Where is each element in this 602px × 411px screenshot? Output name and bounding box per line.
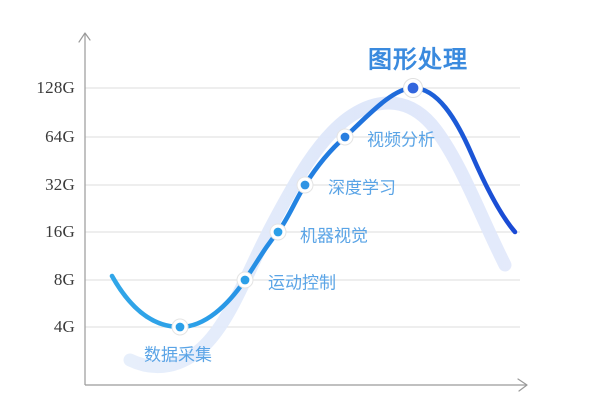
marker-machine-vision[interactable] — [270, 224, 286, 240]
point-label-data-acquisition: 数据采集 — [144, 341, 212, 366]
y-tick-label-64g: 64G — [20, 127, 75, 147]
y-axis — [79, 33, 90, 385]
y-tick-label-128g: 128G — [20, 78, 75, 98]
marker-data-acquisition[interactable] — [172, 319, 188, 335]
y-tick-label-16g: 16G — [20, 222, 75, 242]
point-label-motion-control: 运动控制 — [268, 269, 336, 294]
point-label-video-analysis: 视频分析 — [367, 126, 435, 151]
y-tick-label-4g: 4G — [20, 317, 75, 337]
y-tick-label-8g: 8G — [20, 270, 75, 290]
chart-svg — [0, 0, 602, 411]
marker-deep-learning[interactable] — [297, 177, 313, 193]
marker-video-analysis[interactable] — [337, 129, 353, 145]
data-point-markers — [172, 79, 423, 336]
marker-motion-control[interactable] — [237, 272, 253, 288]
point-label-graphics-processing: 图形处理 — [368, 40, 468, 75]
marker-graphics-processing[interactable] — [404, 79, 423, 98]
point-label-machine-vision: 机器视觉 — [300, 222, 368, 247]
y-tick-label-32g: 32G — [20, 175, 75, 195]
chart-container: 128G 64G 32G 16G 8G 4G 数据采集 运动控制 机器视觉 深度… — [0, 0, 602, 411]
point-label-deep-learning: 深度学习 — [328, 174, 396, 199]
x-axis — [85, 379, 527, 391]
